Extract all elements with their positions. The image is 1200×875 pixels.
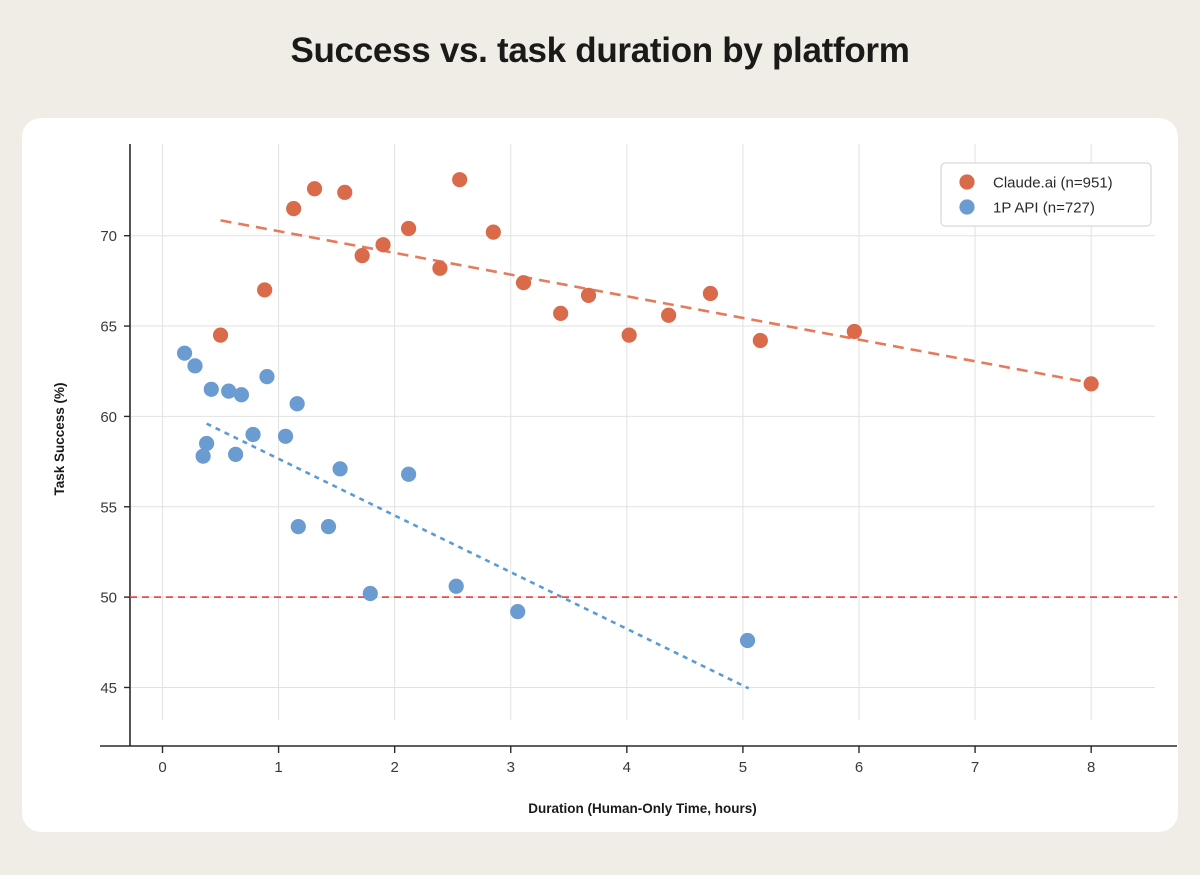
data-point-claude_ai[interactable] <box>375 237 390 252</box>
data-point-api_1p[interactable] <box>290 396 305 411</box>
data-point-claude_ai[interactable] <box>401 221 416 236</box>
data-point-api_1p[interactable] <box>245 427 260 442</box>
x-tick-label: 8 <box>1087 759 1095 776</box>
x-tick-label: 2 <box>390 759 398 776</box>
y-axis-title: Task Success (%) <box>52 382 67 495</box>
legend-swatch-api_1p <box>959 199 974 214</box>
data-point-api_1p[interactable] <box>228 447 243 462</box>
data-point-claude_ai[interactable] <box>286 201 301 216</box>
y-tick-label: 65 <box>100 319 117 336</box>
tick-labels: 455055606570012345678 <box>100 228 1095 776</box>
x-tick-label: 5 <box>739 759 747 776</box>
data-point-api_1p[interactable] <box>401 467 416 482</box>
data-point-api_1p[interactable] <box>187 358 202 373</box>
data-point-claude_ai[interactable] <box>337 185 352 200</box>
legend-label-claude_ai: Claude.ai (n=951) <box>993 175 1113 192</box>
trendlines <box>207 220 1092 688</box>
data-point-claude_ai[interactable] <box>553 306 568 321</box>
data-points <box>177 172 1099 648</box>
data-point-claude_ai[interactable] <box>516 275 531 290</box>
data-point-api_1p[interactable] <box>204 382 219 397</box>
axes <box>100 144 1177 746</box>
y-tick-label: 70 <box>100 228 117 245</box>
y-tick-label: 50 <box>100 590 117 607</box>
legend-swatch-claude_ai <box>959 174 974 189</box>
x-tick-label: 1 <box>274 759 282 776</box>
data-point-claude_ai[interactable] <box>307 181 322 196</box>
x-tick-label: 3 <box>507 759 515 776</box>
x-tick-label: 7 <box>971 759 979 776</box>
x-tick-label: 4 <box>623 759 631 776</box>
data-point-claude_ai[interactable] <box>661 308 676 323</box>
y-tick-label: 60 <box>100 409 117 426</box>
x-tick-label: 6 <box>855 759 863 776</box>
data-point-claude_ai[interactable] <box>213 327 228 342</box>
data-point-api_1p[interactable] <box>449 579 464 594</box>
data-point-claude_ai[interactable] <box>622 327 637 342</box>
data-point-claude_ai[interactable] <box>847 324 862 339</box>
x-axis-title: Duration (Human-Only Time, hours) <box>528 801 757 816</box>
data-point-api_1p[interactable] <box>291 519 306 534</box>
data-point-claude_ai[interactable] <box>581 288 596 303</box>
data-point-api_1p[interactable] <box>196 449 211 464</box>
data-point-claude_ai[interactable] <box>1084 376 1099 391</box>
scatter-plot: 455055606570012345678 Duration (Human-On… <box>22 118 1178 832</box>
trendline-claude_ai <box>221 220 1092 383</box>
y-tick-label: 55 <box>100 499 117 516</box>
data-point-api_1p[interactable] <box>363 586 378 601</box>
legend-box <box>941 163 1151 226</box>
data-point-api_1p[interactable] <box>278 429 293 444</box>
data-point-api_1p[interactable] <box>234 387 249 402</box>
data-point-api_1p[interactable] <box>321 519 336 534</box>
trendline-api_1p <box>207 424 749 689</box>
data-point-api_1p[interactable] <box>177 346 192 361</box>
data-point-claude_ai[interactable] <box>753 333 768 348</box>
legend: Claude.ai (n=951)1P API (n=727) <box>941 163 1151 226</box>
x-tick-label: 0 <box>158 759 166 776</box>
data-point-api_1p[interactable] <box>221 384 236 399</box>
data-point-claude_ai[interactable] <box>703 286 718 301</box>
y-tick-label: 45 <box>100 680 117 697</box>
chart-card: 455055606570012345678 Duration (Human-On… <box>22 118 1178 832</box>
page-title: Success vs. task duration by platform <box>0 31 1200 71</box>
data-point-claude_ai[interactable] <box>452 172 467 187</box>
data-point-claude_ai[interactable] <box>355 248 370 263</box>
data-point-api_1p[interactable] <box>740 633 755 648</box>
data-point-api_1p[interactable] <box>510 604 525 619</box>
data-point-claude_ai[interactable] <box>432 261 447 276</box>
data-point-api_1p[interactable] <box>259 369 274 384</box>
data-point-api_1p[interactable] <box>333 461 348 476</box>
legend-label-api_1p: 1P API (n=727) <box>993 200 1095 217</box>
data-point-claude_ai[interactable] <box>486 224 501 239</box>
data-point-claude_ai[interactable] <box>257 282 272 297</box>
